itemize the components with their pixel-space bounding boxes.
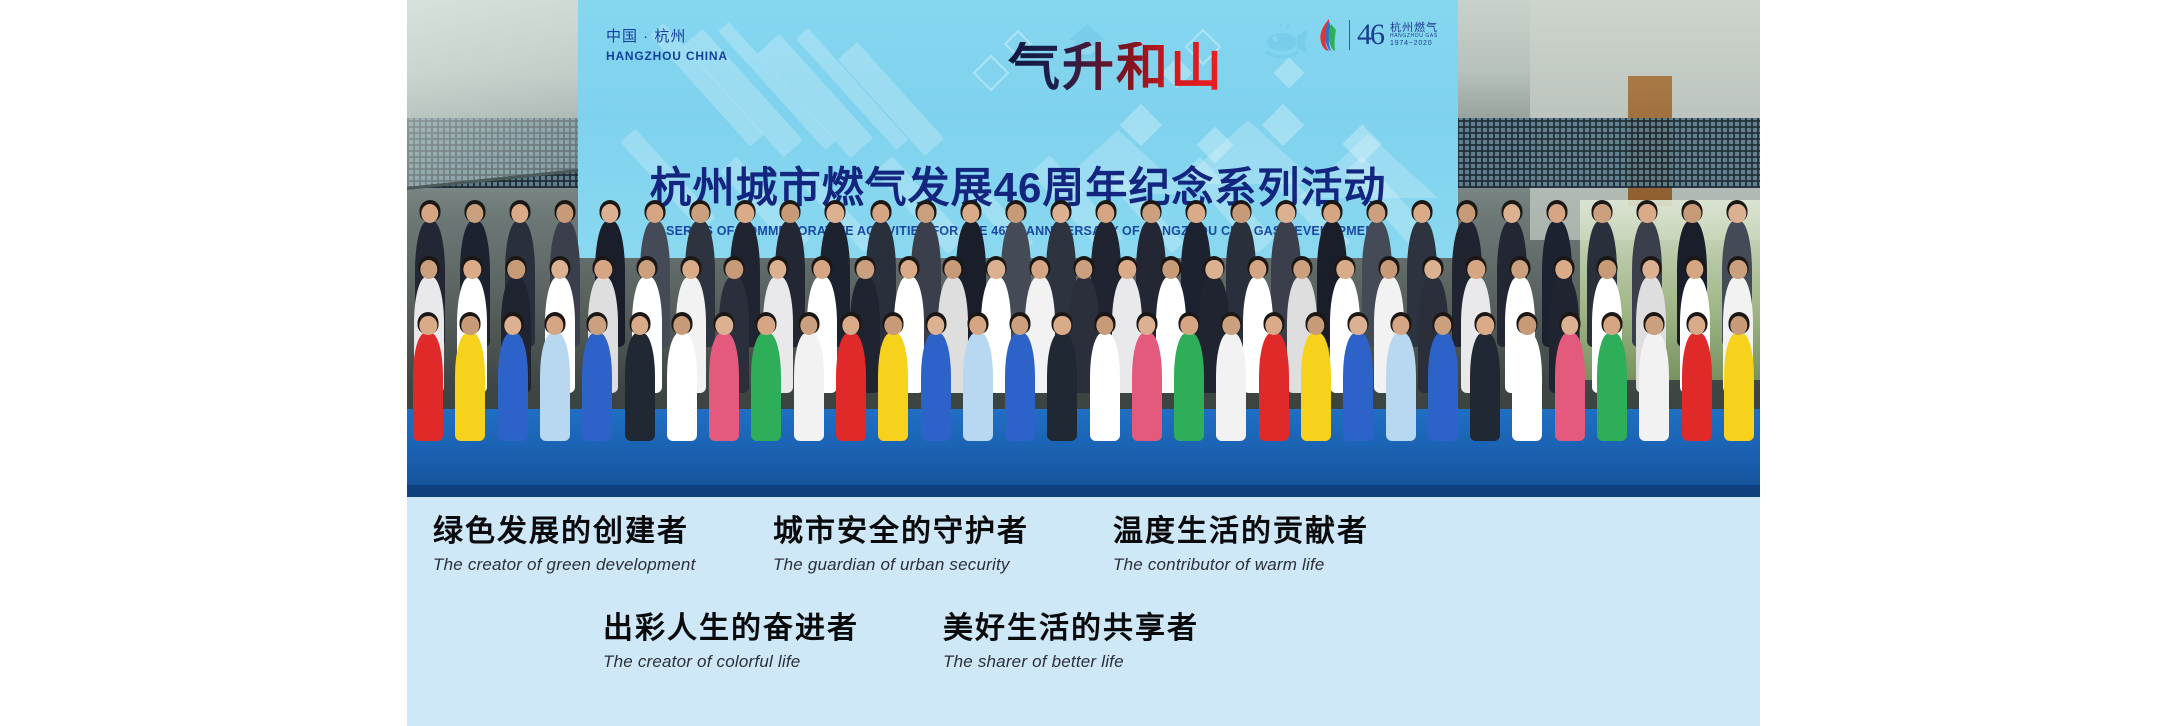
person-head (1337, 260, 1354, 279)
hangzhou-gas-logo: 46 杭州燃气 HANGZHOU GAS 1974~2020 (1316, 18, 1438, 52)
person (625, 333, 655, 441)
slogan-2: 城市安全的守护者 The guardian of urban security (773, 515, 1029, 575)
slogan-5-en: The sharer of better life (943, 652, 1199, 672)
logo-divider (1349, 20, 1350, 50)
brand-years: 1974~2020 (1390, 40, 1438, 48)
person (1555, 333, 1585, 441)
group-photo: 中国 · 杭州 HANGZHOU CHINA 46 杭州燃气 HANGZHOU … (407, 0, 1760, 497)
slogan-3: 温度生活的贡献者 The contributor of warm life (1113, 515, 1369, 575)
location-en: HANGZHOU CHINA (606, 48, 728, 65)
banner-location: 中国 · 杭州 HANGZHOU CHINA (606, 26, 728, 65)
person (540, 333, 570, 441)
slogan-4-en: The creator of colorful life (603, 652, 859, 672)
person-head (737, 204, 754, 223)
person-head (917, 204, 934, 223)
slogan-2-cn: 城市安全的守护者 (773, 515, 1029, 550)
person (582, 333, 612, 441)
slogan-1-cn: 绿色发展的创建者 (433, 515, 696, 550)
person (709, 333, 739, 441)
person-head (1249, 260, 1266, 279)
person-head (1278, 204, 1295, 223)
person (1597, 333, 1627, 441)
person (1512, 333, 1542, 441)
person-head (466, 204, 483, 223)
fish-pot-icon (1258, 24, 1310, 66)
person-head (1593, 204, 1610, 223)
person (1343, 333, 1373, 441)
person (1047, 333, 1077, 441)
slogan-1: 绿色发展的创建者 The creator of green developmen… (433, 515, 696, 575)
stage-edge (407, 485, 1760, 497)
person-head (1729, 204, 1746, 223)
person (455, 333, 485, 441)
person-head (1476, 316, 1493, 335)
person-head (1368, 204, 1385, 223)
person-head (511, 204, 528, 223)
slogan-3-cn: 温度生活的贡献者 (1113, 515, 1369, 550)
person-head (1503, 204, 1520, 223)
person-head (421, 204, 438, 223)
person-head (1458, 204, 1475, 223)
person-head (1097, 204, 1114, 223)
person-head (1548, 204, 1565, 223)
person (963, 333, 993, 441)
person-head (1142, 204, 1159, 223)
person (794, 333, 824, 441)
person (1682, 333, 1712, 441)
slogan-1-en: The creator of green development (433, 555, 696, 575)
brand-lockup: 杭州燃气 HANGZHOU GAS 1974~2020 (1390, 22, 1438, 48)
person-head (1206, 260, 1223, 279)
person-head (1188, 204, 1205, 223)
person-head (1684, 204, 1701, 223)
slogan-4: 出彩人生的奋进者 The creator of colorful life (603, 612, 859, 672)
person (1301, 333, 1331, 441)
slogan-5-cn: 美好生活的共享者 (943, 612, 1199, 647)
person (836, 333, 866, 441)
person (498, 333, 528, 441)
content-column: 中国 · 杭州 HANGZHOU CHINA 46 杭州燃气 HANGZHOU … (407, 0, 1760, 726)
person (1005, 333, 1035, 441)
flame-icon (1316, 18, 1342, 52)
person-head (691, 204, 708, 223)
person-head (1233, 204, 1250, 223)
person (1428, 333, 1458, 441)
person-head (782, 204, 799, 223)
slogan-5: 美好生活的共享者 The sharer of better life (943, 612, 1199, 672)
person-head (1007, 204, 1024, 223)
person (1090, 333, 1120, 441)
page-root: 中国 · 杭州 HANGZHOU CHINA 46 杭州燃气 HANGZHOU … (0, 0, 2179, 726)
person-head (1323, 204, 1340, 223)
person-head (646, 204, 663, 223)
person-head (962, 204, 979, 223)
person (1724, 333, 1754, 441)
anniversary-number: 46 (1357, 20, 1383, 50)
person-head (1162, 260, 1179, 279)
person-head (1075, 260, 1092, 279)
person (667, 333, 697, 441)
person (921, 333, 951, 441)
slogan-4-cn: 出彩人生的奋进者 (603, 612, 859, 647)
person (1259, 333, 1289, 441)
person-head (556, 204, 573, 223)
person (1639, 333, 1669, 441)
person (413, 333, 443, 441)
person-head (1413, 204, 1430, 223)
slogan-panel: 绿色发展的创建者 The creator of green developmen… (407, 497, 1760, 726)
crowd-group: 杭州燃气集团有限公司 (407, 167, 1760, 497)
person (1470, 333, 1500, 441)
person-head (1434, 316, 1451, 335)
person-head (1424, 260, 1441, 279)
person (1386, 333, 1416, 441)
person (878, 333, 908, 441)
person-head (1380, 260, 1397, 279)
person-head (1468, 260, 1485, 279)
slogan-2-en: The guardian of urban security (773, 555, 1029, 575)
person (751, 333, 781, 441)
person-head (1639, 204, 1656, 223)
person-head (1052, 204, 1069, 223)
person (1132, 333, 1162, 441)
person-head (827, 204, 844, 223)
slogan-3-en: The contributor of warm life (1113, 555, 1369, 575)
hero-artwork-title: 气升和山 (1008, 42, 1224, 94)
person-head (1293, 260, 1310, 279)
person (1174, 333, 1204, 441)
person (1216, 333, 1246, 441)
person-head (1118, 260, 1135, 279)
person-head (872, 204, 889, 223)
person-head (601, 204, 618, 223)
location-cn: 中国 · 杭州 (606, 26, 728, 48)
